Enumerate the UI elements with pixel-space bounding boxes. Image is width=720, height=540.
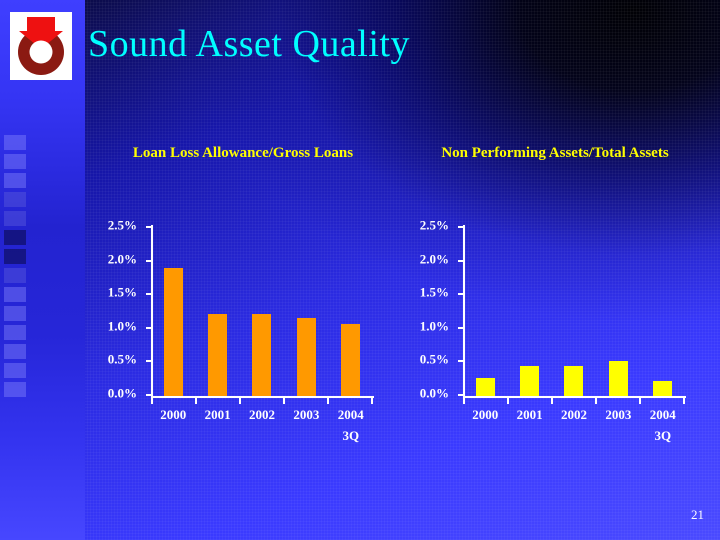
y-tick-label: 1.0% <box>420 318 449 334</box>
chart-non-performing-assets: Non Performing Assets/Total Assets 2.5% … <box>400 140 710 460</box>
bar-2001 <box>520 366 539 396</box>
bar-slot <box>463 228 507 396</box>
bar-2001 <box>208 314 227 396</box>
y-tick-label: 2.5% <box>108 217 137 233</box>
bar-2004-3q <box>341 324 360 396</box>
x-tick <box>327 397 329 404</box>
chart-title: Loan Loss Allowance/Gross Loans <box>88 145 398 162</box>
x-tick-sublabel: 3Q <box>641 425 685 446</box>
x-tick <box>551 397 553 404</box>
chart-loan-loss-allowance: Loan Loss Allowance/Gross Loans 2.5% 2.0… <box>88 140 398 460</box>
y-tick-label: 2.0% <box>420 251 449 267</box>
band-square <box>4 211 26 226</box>
x-tick <box>371 397 373 404</box>
page-number: 21 <box>691 507 704 523</box>
y-tick-label: 1.5% <box>108 285 137 301</box>
x-tick-label: 2002 <box>552 404 596 425</box>
presentation-slide: Sound Asset Quality Loan Loss Allowance/… <box>0 0 720 540</box>
band-square <box>4 363 26 378</box>
band-square <box>4 268 26 283</box>
plot-area-right: 2.5% 2.0% 1.5% 1.0% 0.5% 0.0% <box>463 228 685 396</box>
x-axis-labels-left: 2000 2001 2002 2003 2004 3Q <box>151 404 373 446</box>
x-tick-label: 2001 <box>508 404 552 425</box>
bar-2003 <box>297 318 316 396</box>
plot-area-left: 2.5% 2.0% 1.5% 1.0% 0.5% 0.0% <box>151 228 373 396</box>
x-axis-line <box>463 396 686 398</box>
x-tick-sublabel: 3Q <box>329 425 373 446</box>
band-square <box>4 154 26 169</box>
logo-arrow-ring-icon <box>10 12 72 80</box>
bar-2000 <box>164 268 183 396</box>
x-tick <box>507 397 509 404</box>
bar-slot <box>284 228 328 396</box>
x-tick-label: 2000 <box>151 404 195 425</box>
y-tick-label: 2.0% <box>108 251 137 267</box>
x-axis-labels-right: 2000 2001 2002 2003 2004 3Q <box>463 404 685 446</box>
x-tick <box>239 397 241 404</box>
bar-slot <box>596 228 640 396</box>
bar-slot <box>151 228 195 396</box>
y-tick-label: 0.5% <box>108 352 137 368</box>
bar-2003 <box>609 361 628 396</box>
x-label-slot: 2003 <box>596 404 640 446</box>
y-tick-label: 0.0% <box>420 385 449 401</box>
bar-slot <box>641 228 685 396</box>
y-tick-label: 1.5% <box>420 285 449 301</box>
band-square <box>4 135 26 150</box>
x-tick-label: 2000 <box>463 404 507 425</box>
band-square <box>4 306 26 321</box>
x-label-slot: 2003 <box>284 404 328 446</box>
y-tick-label: 2.5% <box>420 217 449 233</box>
x-label-slot: 2002 <box>552 404 596 446</box>
company-logo <box>10 12 72 80</box>
x-label-slot: 2001 <box>196 404 240 446</box>
x-label-slot: 2004 3Q <box>641 404 685 446</box>
band-square <box>4 249 26 264</box>
left-decorative-band <box>0 0 85 540</box>
x-axis-line <box>151 396 374 398</box>
x-tick <box>195 397 197 404</box>
y-tick-label: 1.0% <box>108 318 137 334</box>
bar-slot <box>240 228 284 396</box>
x-label-slot: 2000 <box>463 404 507 446</box>
x-tick <box>639 397 641 404</box>
band-square <box>4 230 26 245</box>
band-square <box>4 287 26 302</box>
band-square <box>4 325 26 340</box>
x-label-slot: 2002 <box>240 404 284 446</box>
x-tick-label: 2003 <box>284 404 328 425</box>
x-tick-label: 2002 <box>240 404 284 425</box>
bar-2002 <box>564 366 583 396</box>
bar-slot <box>196 228 240 396</box>
band-square <box>4 344 26 359</box>
band-square-column <box>4 135 26 420</box>
x-tick-label: 2001 <box>196 404 240 425</box>
x-tick <box>283 397 285 404</box>
bar-group-right <box>463 228 685 396</box>
band-square <box>4 192 26 207</box>
x-tick-label: 2004 <box>329 404 373 425</box>
x-tick-label: 2003 <box>596 404 640 425</box>
x-label-slot: 2001 <box>508 404 552 446</box>
chart-title: Non Performing Assets/Total Assets <box>400 145 710 162</box>
x-tick <box>595 397 597 404</box>
band-square <box>4 382 26 397</box>
page-title: Sound Asset Quality <box>88 22 410 66</box>
bar-2004-3q <box>653 381 672 397</box>
bar-slot <box>508 228 552 396</box>
y-tick-label: 0.0% <box>108 385 137 401</box>
bar-group-left <box>151 228 373 396</box>
x-tick <box>683 397 685 404</box>
x-label-slot: 2004 3Q <box>329 404 373 446</box>
y-tick-label: 0.5% <box>420 352 449 368</box>
bar-2000 <box>476 378 495 396</box>
x-label-slot: 2000 <box>151 404 195 446</box>
x-tick-label: 2004 <box>641 404 685 425</box>
bar-slot <box>329 228 373 396</box>
band-square <box>4 173 26 188</box>
bar-slot <box>552 228 596 396</box>
bar-2002 <box>252 314 271 396</box>
